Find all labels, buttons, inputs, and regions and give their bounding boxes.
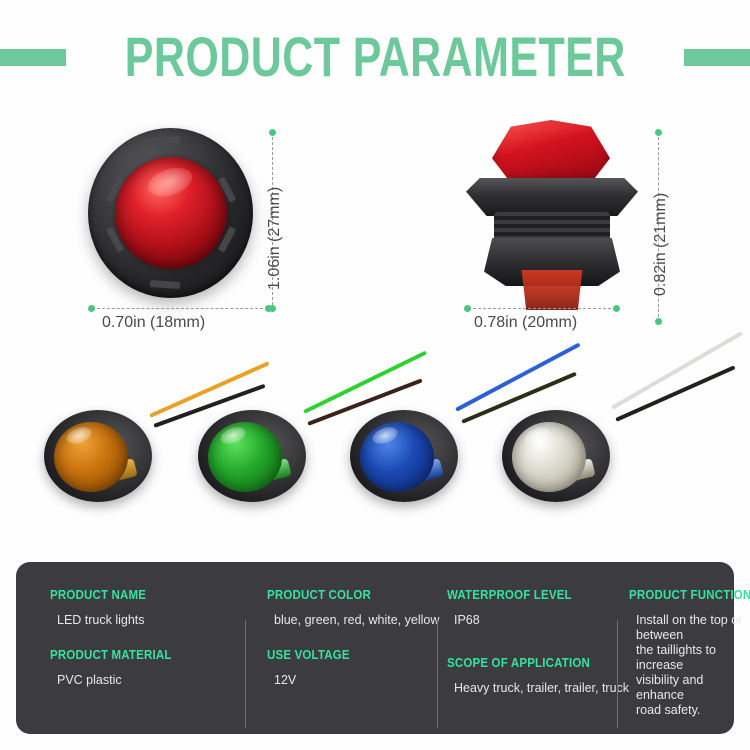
dim-dot xyxy=(88,305,95,312)
product-showcase: 0.70in (18mm) 1.06in (27mm) 0.78in (20mm… xyxy=(0,100,750,350)
header-rule-left xyxy=(0,49,66,66)
page-title: PRODUCT PARAMETER xyxy=(124,28,625,86)
spec-value: PVC plastic xyxy=(50,673,232,688)
red-led-side-image xyxy=(460,120,640,310)
spec-value: 12V xyxy=(267,673,412,688)
height-dimension-label-1: 1.06in (27mm) xyxy=(266,187,284,290)
spec-label: WATERPROOF LEVEL xyxy=(447,588,582,602)
specification-panel: PRODUCT NAME LED truck lights PRODUCT MA… xyxy=(16,562,734,734)
spec-column-4: PRODUCT FUNCTION Install on the top or b… xyxy=(608,588,750,734)
spec-label: PRODUCT FUNCTION xyxy=(629,588,744,602)
spec-value: Heavy truck, trailer, trailer, truck xyxy=(447,681,594,696)
width-dimension-line-1 xyxy=(92,308,268,309)
header-rule-right xyxy=(684,49,750,66)
spec-label: PRODUCT MATERIAL xyxy=(50,648,217,662)
dim-dot xyxy=(269,305,276,312)
spec-label: USE VOLTAGE xyxy=(267,648,400,662)
dim-dot xyxy=(269,129,276,136)
height-dimension-label-2: 0.82in (21mm) xyxy=(652,193,670,296)
dim-dot xyxy=(655,318,662,325)
spec-label: PRODUCT NAME xyxy=(50,588,217,602)
width-dimension-line-2 xyxy=(468,308,616,309)
spec-column-1: PRODUCT NAME LED truck lights PRODUCT MA… xyxy=(50,588,246,734)
color-variants-row xyxy=(0,352,750,547)
width-dimension-label-1: 0.70in (18mm) xyxy=(102,314,205,332)
width-dimension-label-2: 0.78in (20mm) xyxy=(474,314,577,332)
page-header: PRODUCT PARAMETER xyxy=(0,28,750,86)
spec-label: SCOPE OF APPLICATION xyxy=(447,656,582,670)
red-led-front-image xyxy=(88,128,253,298)
spec-field-scope-of-application: SCOPE OF APPLICATION Heavy truck, traile… xyxy=(447,656,594,696)
product-front-view-block: 0.70in (18mm) 1.06in (27mm) xyxy=(40,100,330,350)
spec-field-use-voltage: USE VOLTAGE 12V xyxy=(267,648,412,688)
spec-field-product-function: PRODUCT FUNCTION Install on the top or b… xyxy=(629,588,750,718)
spec-field-product-color: PRODUCT COLOR blue, green, red, white, y… xyxy=(267,588,412,628)
dim-dot xyxy=(613,305,620,312)
spec-field-product-material: PRODUCT MATERIAL PVC plastic xyxy=(50,648,232,688)
spec-value: blue, green, red, white, yellow xyxy=(267,613,412,628)
spec-column-2: PRODUCT COLOR blue, green, red, white, y… xyxy=(246,588,426,734)
white-led-light xyxy=(496,352,686,547)
spec-column-3: WATERPROOF LEVEL IP68 SCOPE OF APPLICATI… xyxy=(426,588,608,734)
spec-field-product-name: PRODUCT NAME LED truck lights xyxy=(50,588,232,628)
spec-value: IP68 xyxy=(447,613,594,628)
spec-label: PRODUCT COLOR xyxy=(267,588,400,602)
spec-value: Install on the top or between the tailli… xyxy=(629,613,750,718)
dim-dot xyxy=(464,305,471,312)
dim-dot xyxy=(655,129,662,136)
spec-value: LED truck lights xyxy=(50,613,232,628)
spec-field-waterproof-level: WATERPROOF LEVEL IP68 xyxy=(447,588,594,628)
product-side-view-block: 0.78in (20mm) 0.82in (21mm) xyxy=(430,100,730,350)
